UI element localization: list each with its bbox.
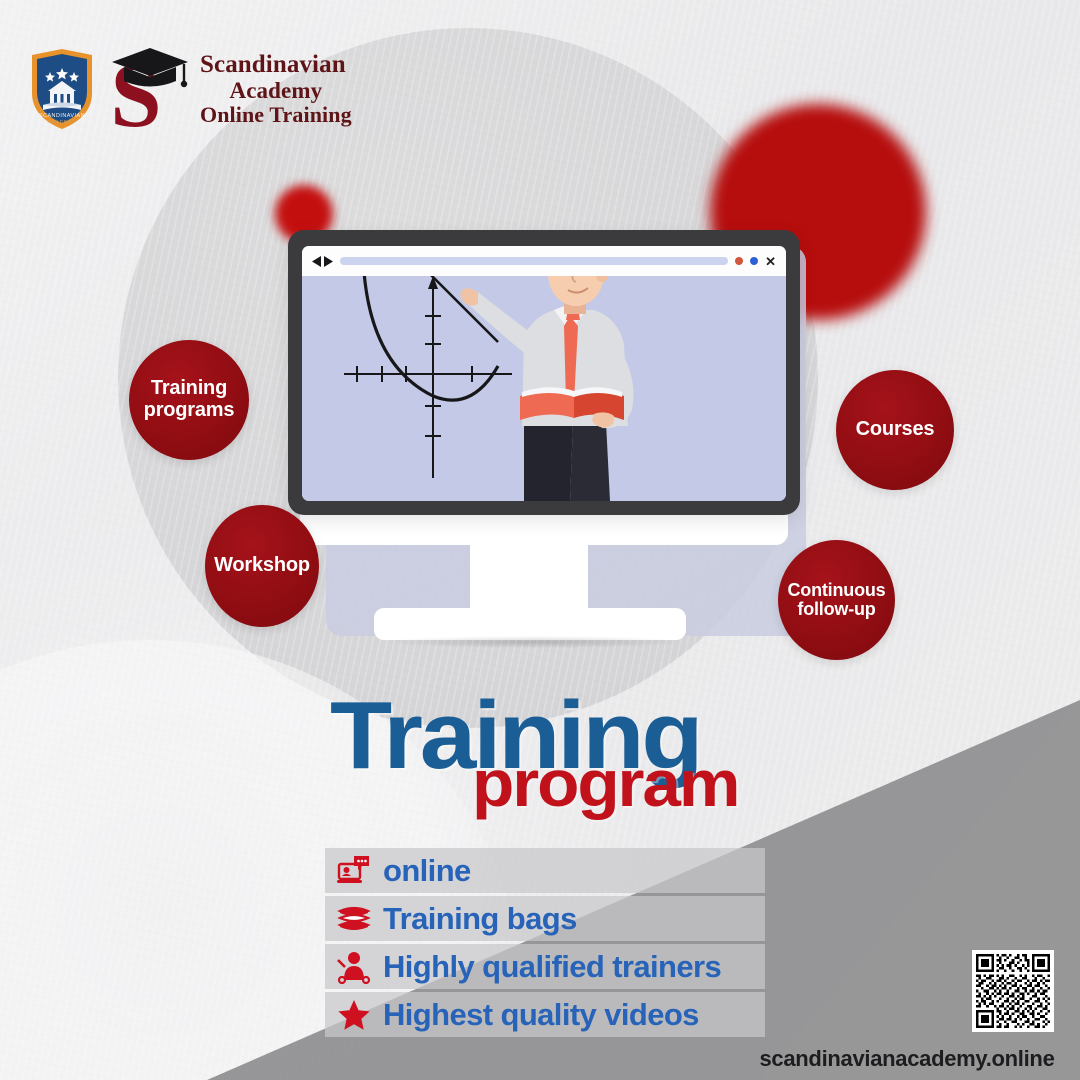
badge-continuous-follow-up[interactable]: Continuous follow-up	[778, 540, 895, 660]
lesson-illustration	[302, 246, 786, 501]
list-item: Training bags	[325, 896, 765, 941]
badge-workshop[interactable]: Workshop	[205, 505, 319, 627]
close-icon[interactable]: ✕	[765, 255, 776, 268]
feature-label: Training bags	[383, 901, 577, 937]
feature-label: Highest quality videos	[383, 997, 699, 1033]
back-arrow-icon	[312, 256, 321, 267]
list-item: Highly qualified trainers	[325, 944, 765, 989]
browser-address-bar[interactable]	[340, 257, 728, 265]
online-laptop-icon	[337, 854, 371, 888]
feature-label: online	[383, 853, 471, 889]
headline-secondary: program	[472, 750, 738, 816]
books-stack-icon	[337, 902, 371, 936]
feature-list: online Training bags	[325, 848, 765, 1040]
browser-chrome-bar: ✕	[302, 246, 786, 276]
headline-block: Training program	[330, 688, 790, 828]
brand-logo: SCANDINAVIAN ACADEMY S Scandinavian Acad…	[28, 40, 352, 138]
badge-training-programs[interactable]: Training programs	[129, 340, 249, 460]
forward-arrow-icon	[324, 256, 333, 267]
brand-line-1: Scandinavian	[200, 52, 352, 78]
window-dot-red-icon[interactable]	[735, 257, 743, 265]
brand-line-3: Online Training	[200, 103, 352, 126]
browser-nav-arrows[interactable]	[312, 256, 333, 267]
monitor-ground-shadow	[384, 636, 684, 648]
poster-canvas: SCANDINAVIAN ACADEMY S Scandinavian Acad…	[0, 0, 1080, 1080]
monitor-stand-neck	[470, 545, 588, 615]
badge-label: Workshop	[214, 555, 310, 577]
shield-text-line2: ACADEMY	[48, 119, 77, 124]
badge-courses[interactable]: Courses	[836, 370, 954, 490]
brand-line-2: Academy	[200, 79, 352, 103]
badge-label: Training programs	[129, 378, 249, 421]
presenter-person-icon	[337, 950, 371, 984]
monitor-frame: ✕	[288, 230, 800, 515]
shield-emblem-icon: SCANDINAVIAN ACADEMY	[28, 47, 96, 131]
badge-label: Continuous follow-up	[778, 581, 895, 620]
window-dot-blue-icon[interactable]	[750, 257, 758, 265]
qr-code[interactable]	[972, 950, 1054, 1032]
star-icon	[337, 998, 371, 1032]
feature-label: Highly qualified trainers	[383, 949, 721, 985]
monitor-screen: ✕	[302, 246, 786, 501]
monogram-graduation-cap-icon: S	[106, 40, 194, 138]
list-item: online	[325, 848, 765, 893]
badge-label: Courses	[856, 419, 935, 441]
website-url[interactable]: scandinavianacademy.online	[742, 1046, 1072, 1072]
brand-name: Scandinavian Academy Online Training	[200, 52, 352, 125]
list-item: Highest quality videos	[325, 992, 765, 1037]
